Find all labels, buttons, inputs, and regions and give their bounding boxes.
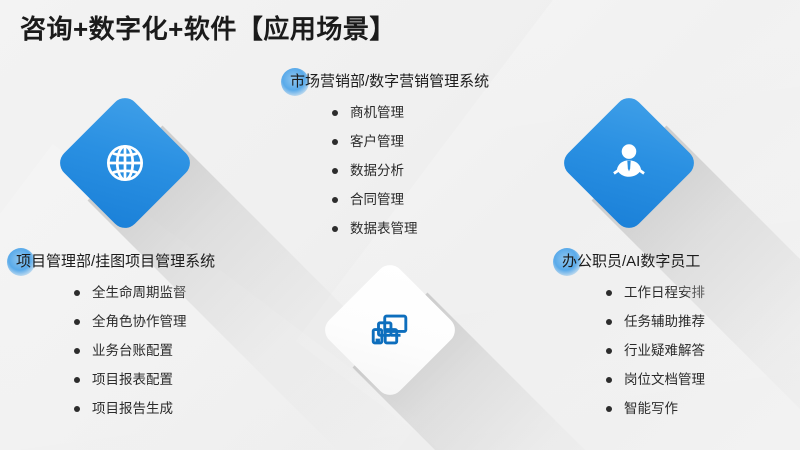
list-item: 全角色协作管理 xyxy=(72,313,215,330)
bullet-dot xyxy=(74,290,80,296)
list-item: 商机管理 xyxy=(330,104,489,121)
bullet-dot xyxy=(606,319,612,325)
businessperson-icon xyxy=(604,138,654,188)
list-item: 数据表管理 xyxy=(330,220,489,237)
bullet-dot xyxy=(606,290,612,296)
multi-device-icon xyxy=(367,307,413,353)
bullet-dot xyxy=(606,377,612,383)
bullet-list-marketing: 商机管理 客户管理 数据分析 合同管理 数据表管理 xyxy=(330,104,489,237)
list-item: 岗位文档管理 xyxy=(604,371,705,388)
list-item: 数据分析 xyxy=(330,162,489,179)
bullet-dot xyxy=(332,110,338,116)
list-item: 智能写作 xyxy=(604,400,705,417)
list-item: 项目报表配置 xyxy=(72,371,215,388)
bullet-dot xyxy=(332,139,338,145)
list-item: 任务辅助推荐 xyxy=(604,313,705,330)
bullet-list-staff: 工作日程安排 任务辅助推荐 行业疑难解答 岗位文档管理 智能写作 xyxy=(604,284,705,417)
list-item: 项目报告生成 xyxy=(72,400,215,417)
page-title: 咨询+数字化+软件【应用场景】 xyxy=(20,9,396,46)
list-item: 业务台账配置 xyxy=(72,342,215,359)
group-heading-staff: 办公职员/AI数字员工 xyxy=(560,252,700,272)
bullet-dot xyxy=(74,319,80,325)
bullet-dot xyxy=(606,348,612,354)
group-heading-project: 项目管理部/挂图项目管理系统 xyxy=(14,252,215,272)
list-item: 合同管理 xyxy=(330,191,489,208)
group-marketing: 市场营销部/数字营销管理系统 商机管理 客户管理 数据分析 合同管理 数据表管理 xyxy=(288,72,489,249)
bullet-dot xyxy=(332,168,338,174)
bullet-dot xyxy=(74,348,80,354)
bullet-dot xyxy=(74,406,80,412)
bullet-dot xyxy=(332,226,338,232)
diamond-node-globe xyxy=(66,104,184,222)
list-item: 行业疑难解答 xyxy=(604,342,705,359)
bullet-dot xyxy=(332,197,338,203)
list-item: 客户管理 xyxy=(330,133,489,150)
globe-icon xyxy=(100,138,150,188)
bullet-dot xyxy=(74,377,80,383)
diamond-node-staff xyxy=(570,104,688,222)
group-heading-marketing: 市场营销部/数字营销管理系统 xyxy=(288,72,489,92)
slide-canvas: 咨询+数字化+软件【应用场景】 xyxy=(0,0,800,450)
bullet-dot xyxy=(606,406,612,412)
